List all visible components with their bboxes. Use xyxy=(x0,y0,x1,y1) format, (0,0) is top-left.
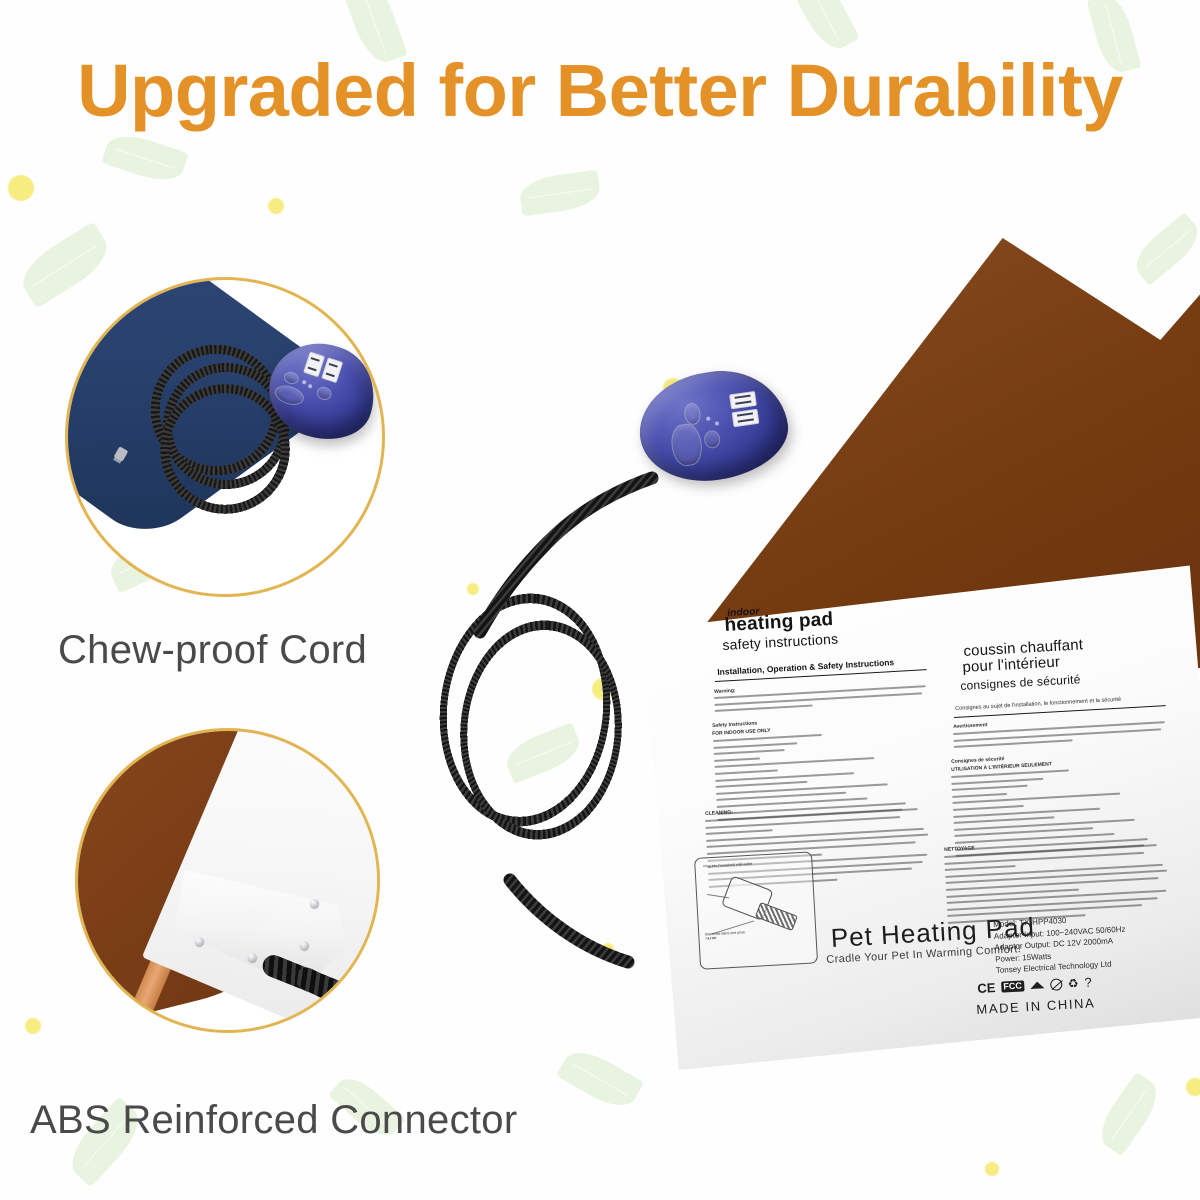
feature-caption-chew-proof-cord: Chew-proof Cord xyxy=(58,628,367,673)
fcc-mark-icon: FCC xyxy=(1001,980,1024,992)
display-digit xyxy=(321,357,343,383)
feature-caption-abs-connector: ABS Reinforced Connector xyxy=(30,1098,517,1143)
plug-diagram: Plug into household wall outlet Branchez… xyxy=(694,851,818,969)
recycle-icon: ♻ xyxy=(1067,977,1078,990)
page-title: Upgraded for Better Durability xyxy=(0,48,1200,133)
feature-circle-chew-proof-cord xyxy=(65,277,385,597)
rivet-icon xyxy=(195,937,204,946)
label-french-subtitle: consignes de sécurité xyxy=(960,672,1081,693)
label-french-warning-heading: Avertissement xyxy=(953,722,988,730)
display-digit xyxy=(729,390,757,408)
plug-diagram-connector xyxy=(755,902,798,931)
rivet-icon xyxy=(248,953,257,962)
rivet-icon xyxy=(310,899,319,908)
no-bleach-icon xyxy=(1049,978,1062,991)
controller-display xyxy=(718,386,771,430)
product-specs: Model: TX-HPP4030 Adaptor Input: 100~240… xyxy=(993,913,1128,975)
ce-mark-icon: CE xyxy=(977,981,996,995)
label-warning-heading: Warning: xyxy=(714,688,736,695)
label-section-heading: Installation, Operation & Safety Instruc… xyxy=(717,657,894,677)
label-indoor-only: FOR INDOOR USE ONLY xyxy=(712,728,771,737)
display-digit xyxy=(732,408,760,426)
house-mark-icon xyxy=(1030,981,1044,989)
temperature-controller[interactable] xyxy=(633,362,796,499)
infographic-canvas: Upgraded for Better Durability indoor he… xyxy=(0,0,1200,1200)
plug-diagram-caption-en: Plug into household wall outlet xyxy=(703,861,773,869)
feature-circle-abs-connector xyxy=(75,728,380,1033)
label-warning-text xyxy=(714,685,927,717)
display-digit xyxy=(303,351,325,377)
certification-marks: CE FCC ♻ ? xyxy=(977,976,1092,995)
plug-diagram-caption-fr: Branchez dans une prise murale xyxy=(705,930,753,941)
rivet-icon xyxy=(300,941,309,950)
query-mark-icon: ? xyxy=(1084,976,1092,989)
label-safety-heading: Safety Instructions xyxy=(712,720,757,729)
country-of-origin: MADE IN CHINA xyxy=(976,995,1096,1017)
controller-body xyxy=(633,362,795,490)
